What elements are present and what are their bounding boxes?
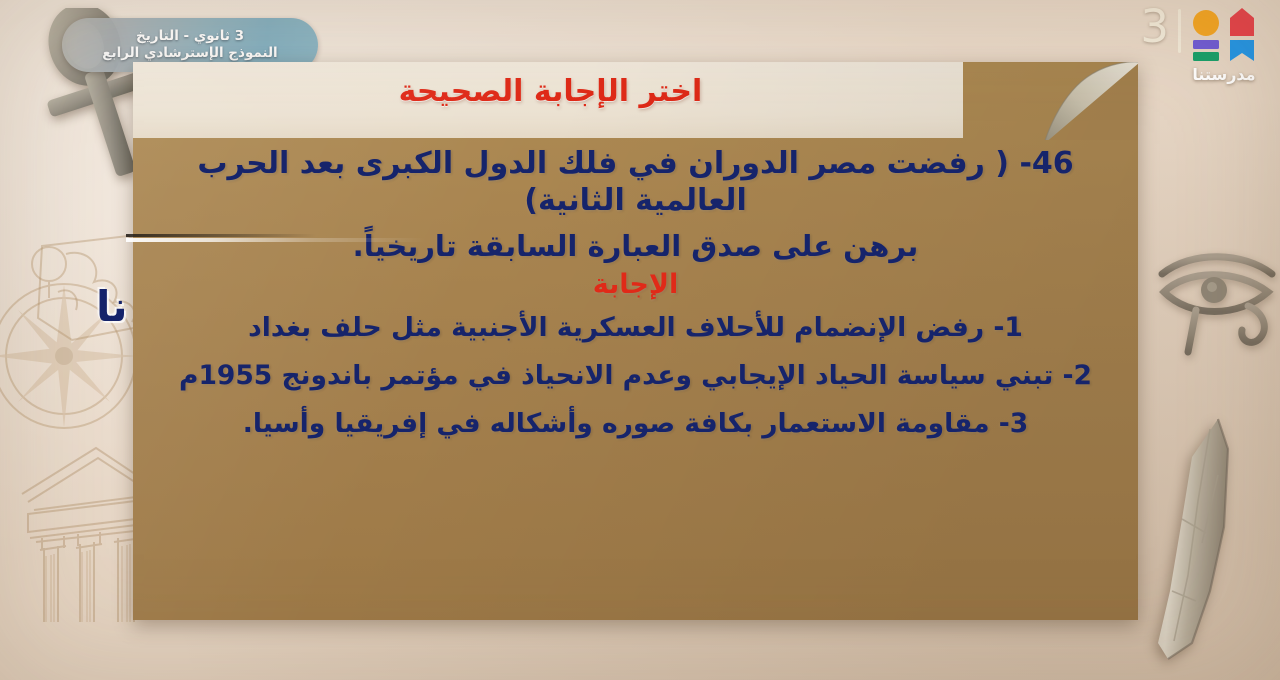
channel-number: 3 [1140,6,1169,48]
slide-screen: 3 ثانوي - التاريخ النموذج الإسترشادي الر… [0,0,1280,680]
madrasatna-mark-icon [1190,8,1258,62]
card-header: اختر الإجابة الصحيحة [133,62,1138,140]
badge-line-1: 3 ثانوي - التاريخ [136,29,244,45]
purple-bar-shape [1193,40,1219,49]
greek-temple-icon [18,438,146,624]
question-prompt: برهن على صدق العبارة السابقة تاريخياً. [147,229,1124,263]
answer-label: الإجابة [147,269,1124,300]
logo-wordmark: مدرستنا [1192,65,1255,84]
answer-item: 1- رفض الإنضمام للأحلاف العسكرية الأجنبي… [147,310,1124,346]
question-line-1: 46- ( رفضت مصر الدوران في فلك الدول الكب… [147,146,1124,183]
answer-item: 3- مقاومة الاستعمار بكافة صوره وأشكاله ف… [147,406,1124,442]
logo-divider [1178,9,1181,53]
stray-text-overlay: نا [96,282,128,331]
logo-right-group: مدرستنا [1190,8,1258,84]
page-curl-icon [980,62,1138,140]
badge-line-2: النموذج الإسترشادي الرابع [102,46,277,62]
channel-logo: 3 مدرستنا [1140,6,1258,84]
card-body: 46- ( رفضت مصر الدوران في فلك الدول الكب… [147,146,1124,453]
flint-blade-icon [1148,415,1244,665]
bookmark-shape [1230,40,1254,61]
house-shape [1230,8,1254,36]
answer-item: 2- تبني سياسة الحياد الإيجابي وعدم الانح… [147,358,1124,394]
answer-list: 1- رفض الإنضمام للأحلاف العسكرية الأجنبي… [147,310,1124,441]
eye-of-horus-icon [1152,248,1280,366]
sun-shape [1193,10,1219,36]
slide-card: اختر الإجابة الصحيحة 46- ( رفضت مصر الدو… [133,62,1138,620]
page-title: اختر الإجابة الصحيحة [133,74,968,109]
question-line-2: العالمية الثانية) [147,183,1124,220]
green-bar-shape [1193,52,1219,61]
